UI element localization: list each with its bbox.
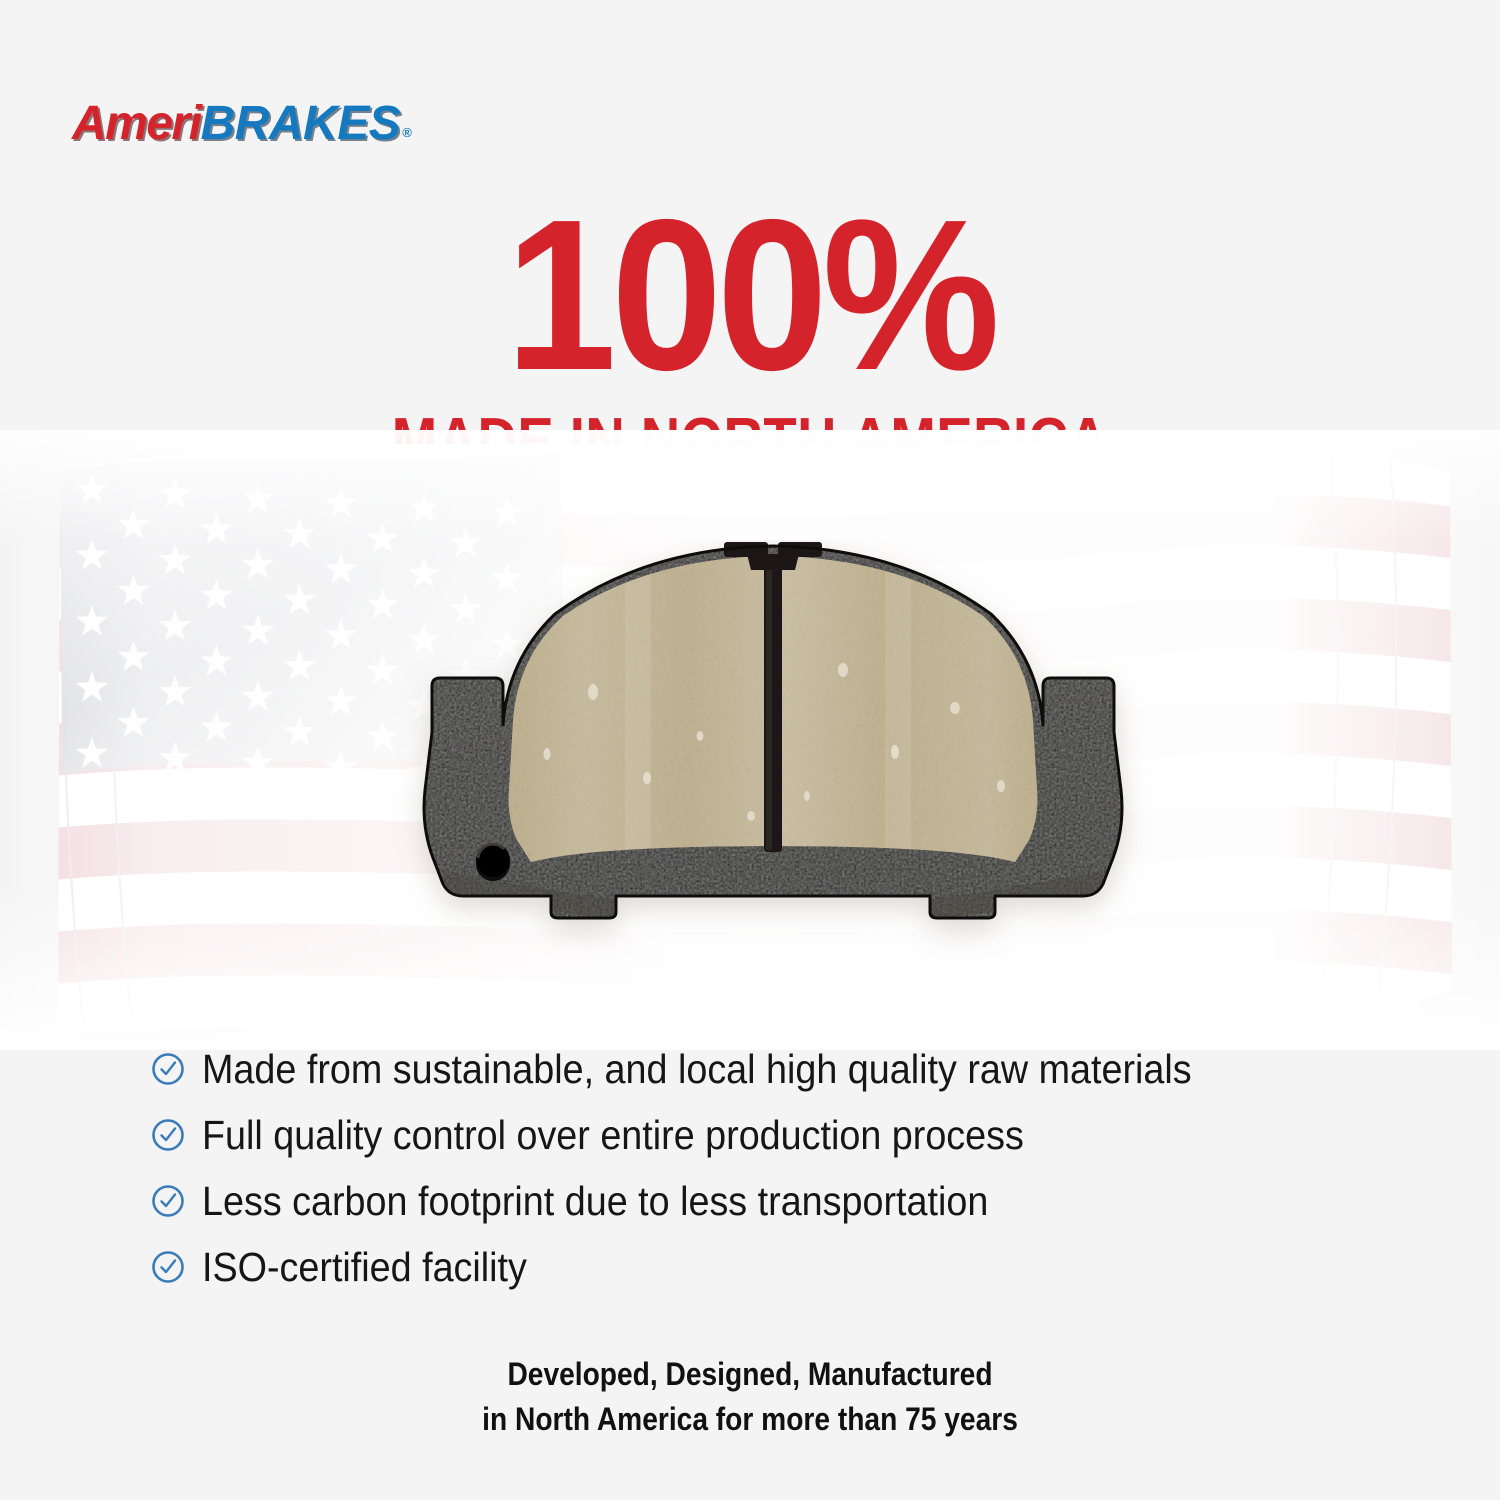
footer-block: Developed, Designed, Manufactured in Nor… (0, 1352, 1500, 1443)
feature-label: Less carbon footprint due to less transp… (202, 1181, 988, 1222)
headline-percent: 100% (53, 196, 1448, 394)
headline-subtitle: MADE IN NORTH AMERICA (90, 410, 1410, 472)
brand-logo[interactable]: Ameri BRAKES ® (72, 100, 412, 156)
footer-line-1: Developed, Designed, Manufactured (90, 1352, 1410, 1397)
list-item: Made from sustainable, and local high qu… (150, 1036, 1390, 1102)
brake-pad-svg (195, 540, 1355, 1010)
check-circle-icon (150, 1117, 186, 1153)
check-circle-icon (150, 1249, 186, 1285)
feature-label: Made from sustainable, and local high qu… (202, 1049, 1192, 1090)
footer-line-2: in North America for more than 75 years (90, 1397, 1410, 1442)
feature-label: ISO-certified facility (202, 1247, 527, 1288)
check-circle-icon (150, 1051, 186, 1087)
feature-label: Full quality control over entire product… (202, 1115, 1024, 1156)
brake-pad-image (195, 540, 1355, 1010)
feature-list: Made from sustainable, and local high qu… (150, 1036, 1390, 1300)
list-item: Less carbon footprint due to less transp… (150, 1168, 1390, 1234)
list-item: ISO-certified facility (150, 1234, 1390, 1300)
logo-text-ameri: Ameri (72, 100, 201, 148)
registered-trademark-icon: ® (402, 125, 412, 140)
headline-block: 100% MADE IN NORTH AMERICA (0, 196, 1500, 472)
marketing-banner: Ameri BRAKES ® 100% MADE IN NORTH AMERIC… (0, 0, 1500, 1500)
check-circle-icon (150, 1183, 186, 1219)
logo-text-brakes: BRAKES (201, 100, 401, 148)
list-item: Full quality control over entire product… (150, 1102, 1390, 1168)
